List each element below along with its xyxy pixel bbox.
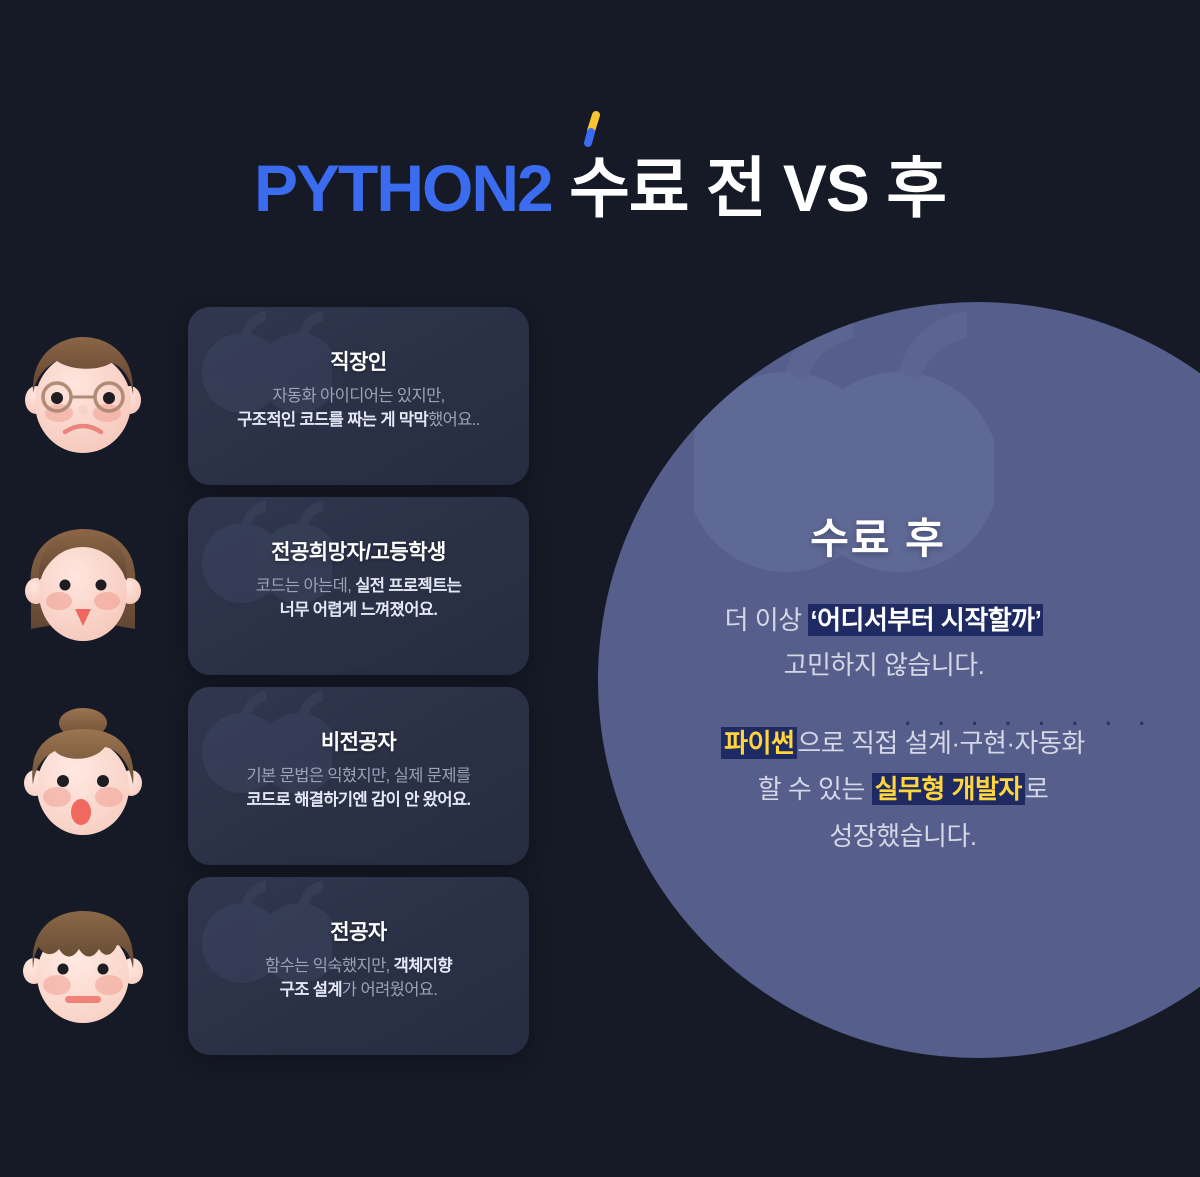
after-p2-line2-prefix: 할 수 있는 — [758, 774, 872, 804]
card-title: 전공희망자/고등학생 — [271, 536, 446, 566]
testimonial-card[interactable]: 비전공자 기본 문법은 익혔지만, 실제 문제를 코드로 해결하기엔 감이 안 … — [188, 687, 529, 865]
card-line-1: 함수는 익숙했지만, 객체지향 — [265, 955, 452, 978]
card-line-2: 코드로 해결하기엔 감이 안 왔어요. — [246, 789, 470, 812]
avatar-office-worker-glasses-frown — [13, 327, 153, 467]
after-p1-prefix: 더 이상 — [725, 605, 809, 635]
after-panel-content: 수료 후 더 이상 ‘어디서부터 시작할까’ 고민하지 않습니다. 파이썬으로 … — [598, 302, 1200, 1058]
card-title: 비전공자 — [321, 726, 396, 756]
testimonial-card[interactable]: 직장인 자동화 아이디어는 있지만, 구조적인 코드를 짜는 게 막막했어요.. — [188, 307, 529, 485]
after-title: 수료 후 — [598, 505, 1158, 566]
card-line-1: 기본 문법은 익혔지만, 실제 문제를 — [246, 765, 470, 788]
testimonial-card[interactable]: 전공희망자/고등학생 코드는 아는데, 실전 프로젝트는 너무 어렵게 느껴졌어… — [188, 497, 529, 675]
card-line-1: 자동화 아이디어는 있지만, — [272, 385, 444, 408]
infographic-canvas: PYTHON2 수료 전 VS 후 — [0, 0, 1200, 1177]
card-title: 직장인 — [330, 346, 386, 376]
title-rest: 수료 전 VS 후 — [569, 151, 946, 225]
avatar-short-hair-neutral — [13, 897, 153, 1037]
card-line-2: 구조적인 코드를 짜는 게 막막했어요.. — [237, 409, 480, 432]
after-p2-dotted-emphasis: 설계·구현·자동화 — [905, 728, 1085, 758]
card-line-1: 코드는 아는데, 실전 프로젝트는 — [256, 575, 461, 598]
after-p2-highlight-developer: 실무형 개발자 — [872, 773, 1025, 805]
after-p2-after1: 으로 직접 — [797, 728, 904, 758]
title-brand: PYTHON2 — [254, 151, 552, 225]
after-p2-highlight-python: 파이썬 — [721, 727, 797, 759]
card-line-2: 너무 어렵게 느껴졌어요. — [280, 599, 438, 622]
card-line-2: 구조 설계가 어려웠어요. — [280, 979, 438, 1002]
after-p2-line2-suffix: 로 — [1025, 774, 1048, 804]
slash-deco-icon — [584, 110, 600, 150]
testimonial-card[interactable]: 전공자 함수는 익숙했지만, 객체지향 구조 설계가 어려웠어요. — [188, 877, 529, 1055]
page-title: PYTHON2 수료 전 VS 후 — [0, 155, 1200, 221]
card-title: 전공자 — [330, 916, 386, 946]
after-paragraph-2: 파이썬으로 직접 설계·구현·자동화 할 수 있는 실무형 개발자로 성장했습니… — [598, 720, 1200, 859]
avatar-bun-hair-surprised — [13, 707, 153, 847]
avatar-student-long-hair-surprised — [13, 517, 153, 657]
after-paragraph-1: 더 이상 ‘어디서부터 시작할까’ 고민하지 않습니다. — [598, 598, 1170, 687]
after-p1-line2: 고민하지 않습니다. — [784, 650, 985, 680]
after-p2-line3: 성장했습니다. — [598, 813, 1200, 859]
after-p1-highlight: ‘어디서부터 시작할까’ — [808, 604, 1043, 636]
